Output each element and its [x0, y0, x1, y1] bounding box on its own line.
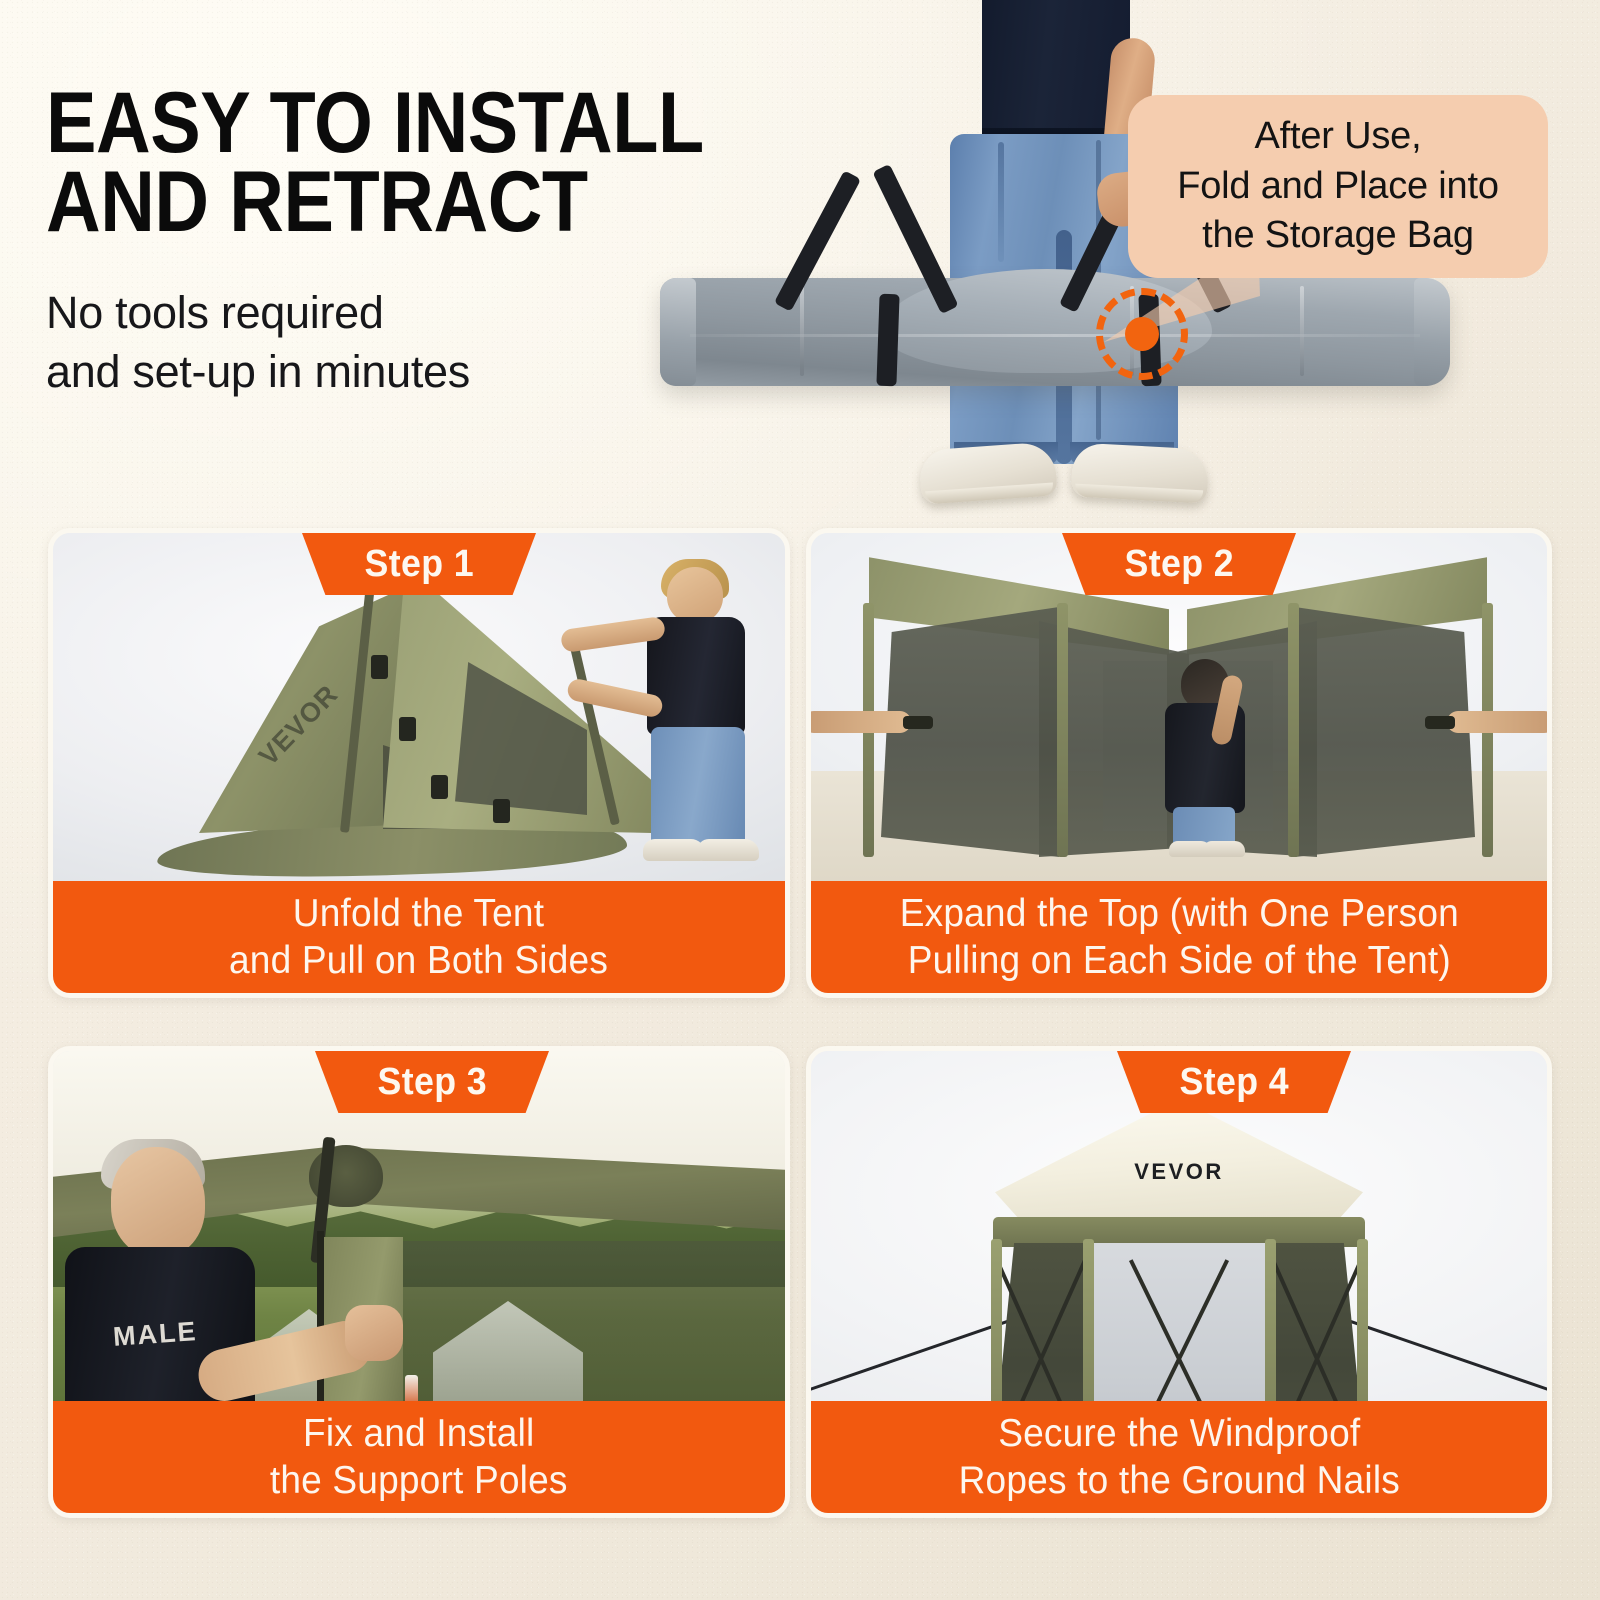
gazebo-brand-logo: VEVOR	[1113, 1159, 1245, 1185]
infographic-root: EASY TO INSTALL AND RETRACT No tools req…	[0, 0, 1600, 1600]
step-1-caption-text: Unfold the Tent and Pull on Both Sides	[229, 890, 608, 984]
tent-clip	[371, 655, 388, 679]
person-shoe-left	[643, 839, 705, 861]
step-3-caption-text: Fix and Install the Support Poles	[270, 1410, 568, 1504]
headline-block: EASY TO INSTALL AND RETRACT No tools req…	[46, 84, 806, 401]
step-1-badge-label: Step 1	[364, 543, 473, 586]
page-subtitle: No tools required and set-up in minutes	[46, 284, 806, 401]
step-2-helper-right	[1425, 707, 1547, 741]
gazebo-post	[1357, 1239, 1368, 1409]
bag-strap-band	[876, 294, 899, 387]
gazebo-post	[1083, 1239, 1094, 1409]
helper-arm	[1447, 711, 1547, 733]
gazebo-mesh-wall-center	[1087, 1243, 1271, 1409]
person-head	[667, 567, 723, 623]
step-2-badge: Step 2	[1062, 533, 1296, 595]
person-shoe-right	[1071, 442, 1210, 503]
callout-bubble: After Use, Fold and Place into the Stora…	[1128, 95, 1548, 278]
step-2-helper-left	[811, 707, 933, 741]
step-4-badge: Step 4	[1117, 1051, 1351, 1113]
step-card-1: VEVOR Step 1 Unfold the Tent and Pull on…	[48, 528, 790, 998]
person-jeans	[651, 727, 745, 845]
step-2-person-center	[1151, 659, 1259, 849]
step-1-person	[609, 567, 769, 863]
jeans-fly	[998, 142, 1004, 262]
helper-arm	[811, 711, 911, 733]
gazebo-post	[1265, 1239, 1276, 1409]
step-4-caption-bar: Secure the Windproof Ropes to the Ground…	[811, 1401, 1547, 1513]
person-shoe-right	[1203, 841, 1245, 857]
target-dot	[1125, 317, 1159, 351]
step-card-3: MALE Step 3 Fix and Install the Support …	[48, 1046, 790, 1518]
person-shoe-left	[918, 441, 1057, 504]
tent-clip	[431, 775, 448, 799]
step-card-2: Step 2 Expand the Top (with One Person P…	[806, 528, 1552, 998]
callout-text: After Use, Fold and Place into the Stora…	[1128, 95, 1548, 278]
gazebo-post	[1057, 603, 1068, 857]
bag-end-right	[1414, 278, 1450, 386]
orange-target-marker-icon	[1096, 288, 1188, 380]
step-card-4: VEVOR Step 4 Secure the Windproof Rope	[806, 1046, 1552, 1518]
step-3-badge-label: Step 3	[377, 1061, 486, 1104]
person-hand	[345, 1305, 403, 1361]
step-3-badge: Step 3	[315, 1051, 549, 1113]
gazebo-post	[1288, 603, 1299, 857]
step-1-badge: Step 1	[302, 533, 536, 595]
step-4-caption-text: Secure the Windproof Ropes to the Ground…	[958, 1410, 1399, 1504]
gazebo-post	[991, 1239, 1002, 1409]
helper-grip	[903, 716, 933, 729]
step-3-caption-bar: Fix and Install the Support Poles	[53, 1401, 785, 1513]
bag-fold	[1300, 286, 1304, 376]
page-title: EASY TO INSTALL AND RETRACT	[46, 84, 715, 242]
tent-clip	[493, 799, 510, 823]
tent-clip	[399, 717, 416, 741]
step-2-badge-label: Step 2	[1124, 543, 1233, 586]
person-shoe-right	[697, 839, 759, 861]
step-1-caption-bar: Unfold the Tent and Pull on Both Sides	[53, 881, 785, 993]
step-4-badge-label: Step 4	[1179, 1061, 1288, 1104]
step-2-caption-bar: Expand the Top (with One Person Pulling …	[811, 881, 1547, 993]
person-head	[111, 1147, 205, 1257]
helper-grip	[1425, 716, 1455, 729]
step-2-caption-text: Expand the Top (with One Person Pulling …	[899, 890, 1458, 984]
shirt-logo: MALE	[112, 1316, 198, 1353]
step-3-person: MALE	[71, 1147, 371, 1409]
